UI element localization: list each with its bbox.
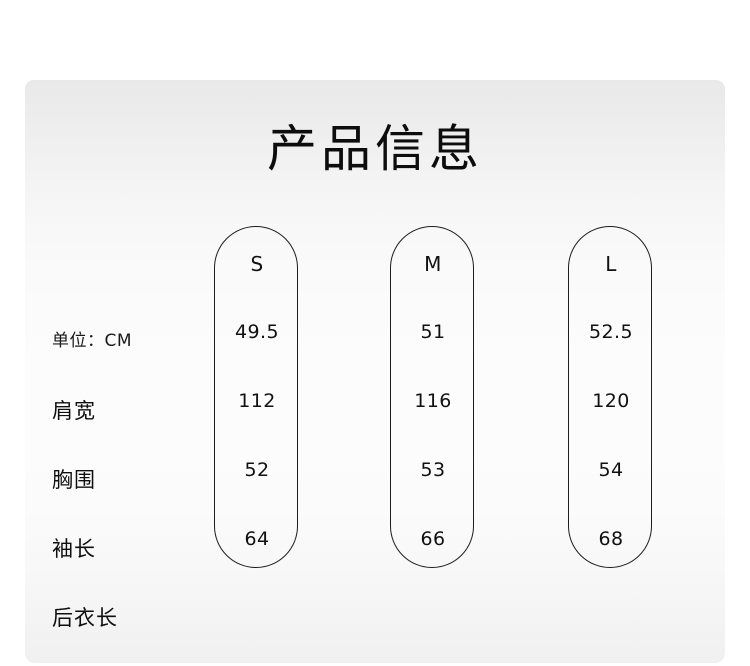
size-value-s-bust: 112: [215, 389, 299, 413]
product-info-card: 产品信息 单位：CM 肩宽 胸围 袖长 后衣长 S 49.5 112 52 64…: [25, 80, 725, 663]
measurement-label-shoulder: 肩宽: [52, 398, 96, 424]
size-value-m-bust: 116: [391, 389, 475, 413]
size-column-s: S 49.5 112 52 64: [214, 226, 298, 568]
size-value-m-length: 66: [391, 527, 475, 551]
size-value-m-shoulder: 51: [391, 320, 475, 344]
size-value-m-sleeve: 53: [391, 458, 475, 482]
size-column-m: M 51 116 53 66: [390, 226, 474, 568]
unit-label: 单位：CM: [52, 329, 132, 353]
size-header-s: S: [215, 252, 299, 276]
size-column-l: L 52.5 120 54 68: [568, 226, 652, 568]
size-value-l-bust: 120: [569, 389, 653, 413]
measurement-label-sleeve: 袖长: [52, 536, 96, 562]
size-value-l-length: 68: [569, 527, 653, 551]
size-value-l-sleeve: 54: [569, 458, 653, 482]
size-header-l: L: [569, 252, 653, 276]
measurement-label-bust: 胸围: [52, 467, 96, 493]
size-value-l-shoulder: 52.5: [569, 320, 653, 344]
size-value-s-shoulder: 49.5: [215, 320, 299, 344]
size-value-s-length: 64: [215, 527, 299, 551]
product-info-page: 产品信息 单位：CM 肩宽 胸围 袖长 后衣长 S 49.5 112 52 64…: [0, 0, 750, 666]
size-value-s-sleeve: 52: [215, 458, 299, 482]
size-header-m: M: [391, 252, 475, 276]
page-title: 产品信息: [25, 120, 725, 178]
measurement-label-length: 后衣长: [52, 605, 118, 631]
